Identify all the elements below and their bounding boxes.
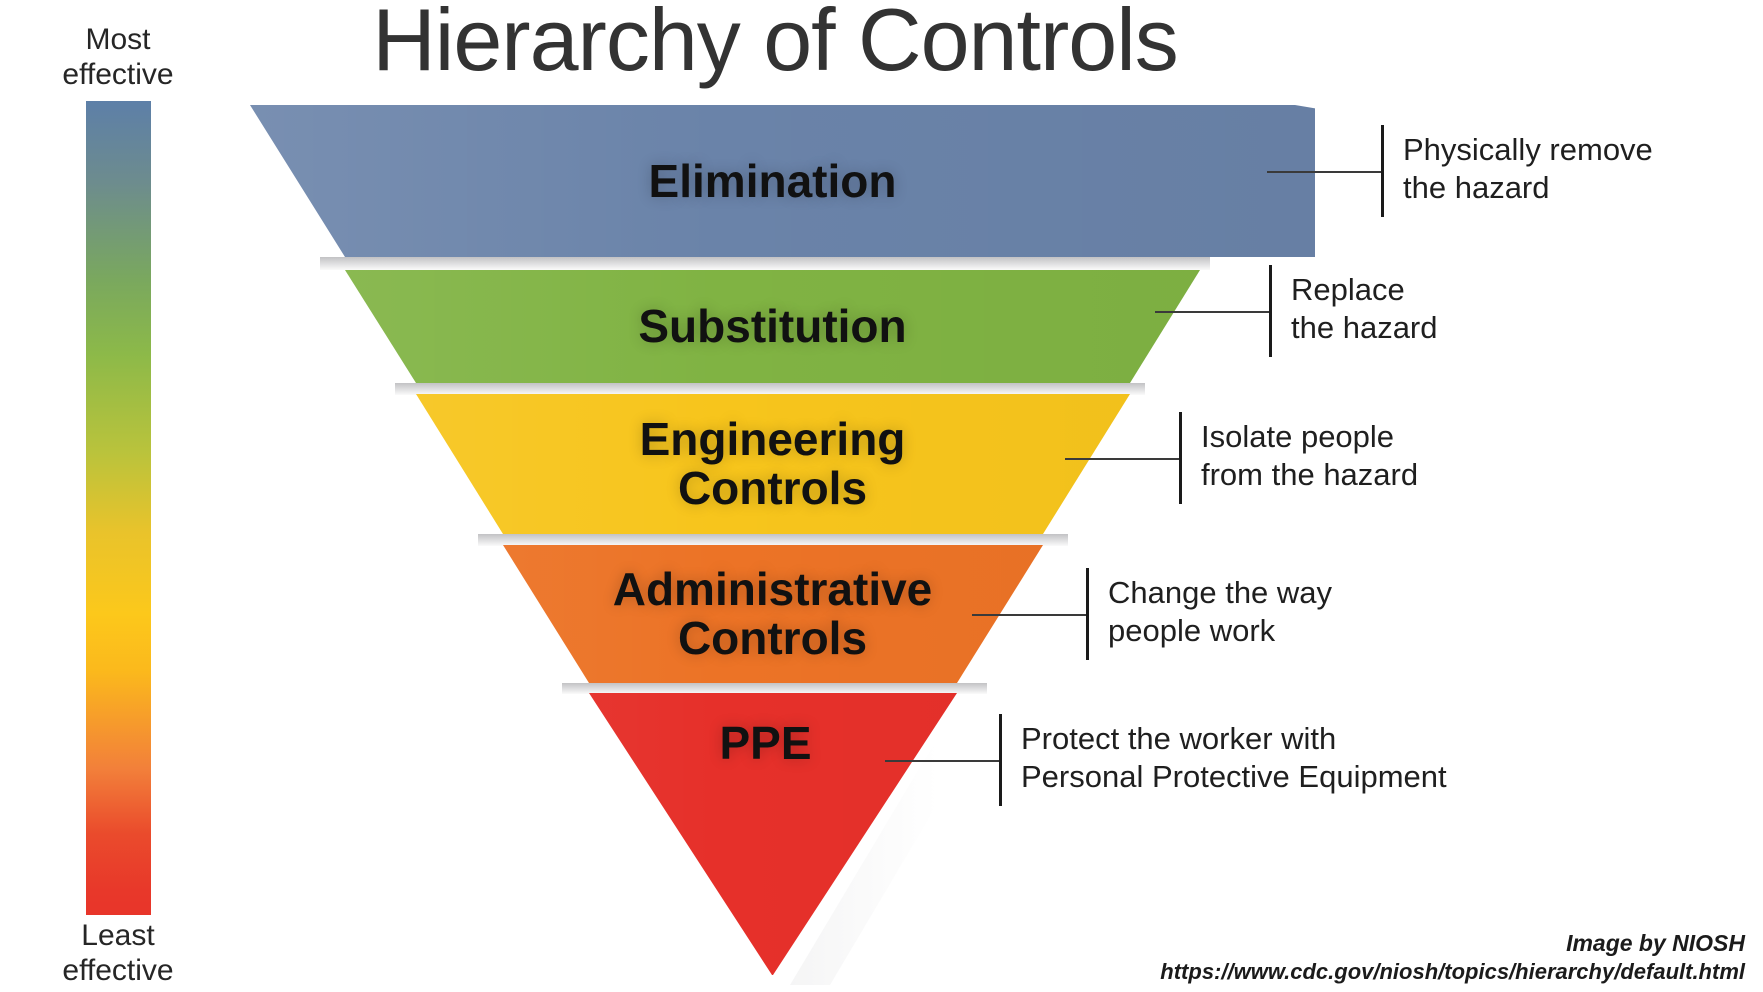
- callout-administrative-controls-leader: [972, 614, 1086, 616]
- callout-ppe: Protect the worker with Personal Protect…: [885, 714, 1445, 806]
- credit-image-by: Image by NIOSH: [1566, 930, 1745, 957]
- administrative-label-line2: Controls: [613, 614, 933, 663]
- callout-elimination-bracket: [1381, 125, 1384, 217]
- band-separator-2: [395, 383, 1145, 395]
- callout-engineering-controls-text-line1: Isolate people: [1201, 418, 1394, 456]
- callout-ppe-bracket: [999, 714, 1002, 806]
- callout-substitution-text-line2: the hazard: [1291, 309, 1438, 347]
- callout-elimination: Physically remove the hazard: [1267, 125, 1737, 217]
- administrative-label-line1: Administrative: [613, 565, 933, 614]
- funnel-band-substitution[interactable]: Substitution: [230, 270, 1315, 383]
- callout-elimination-leader: [1267, 171, 1381, 173]
- funnel-band-elimination[interactable]: Elimination: [230, 105, 1315, 257]
- callout-administrative-controls-text-line1: Change the way: [1108, 574, 1332, 612]
- band-separator-3: [478, 534, 1068, 546]
- funnel-band-elimination-label: Elimination: [649, 157, 897, 206]
- funnel-band-engineering-controls-label: Engineering Controls: [640, 415, 906, 513]
- engineering-label-line1: Engineering: [640, 415, 906, 464]
- callout-administrative-controls: Change the way people work: [972, 568, 1442, 660]
- infographic-root: Hierarchy of Controls Most effective Lea…: [0, 0, 1763, 992]
- engineering-label-line2: Controls: [640, 464, 906, 513]
- callout-administrative-controls-bracket: [1086, 568, 1089, 660]
- band-separator-1: [320, 257, 1210, 270]
- funnel-band-ppe-label: PPE: [719, 719, 811, 768]
- callout-engineering-controls-leader: [1065, 458, 1179, 460]
- callout-substitution-text-line1: Replace: [1291, 271, 1405, 309]
- band-separator-4: [562, 683, 987, 694]
- callout-ppe-text-line1: Protect the worker with: [1021, 720, 1336, 758]
- callout-administrative-controls-text-line2: people work: [1108, 612, 1275, 650]
- callout-ppe-leader: [885, 760, 999, 762]
- callout-substitution-leader: [1155, 311, 1269, 313]
- callout-elimination-text-line2: the hazard: [1403, 169, 1550, 207]
- callout-engineering-controls-text-line2: from the hazard: [1201, 456, 1418, 494]
- callout-engineering-controls: Isolate people from the hazard: [1065, 412, 1535, 504]
- funnel-band-administrative-controls-label: Administrative Controls: [613, 565, 933, 663]
- callout-engineering-controls-bracket: [1179, 412, 1182, 504]
- credit-url[interactable]: https://www.cdc.gov/niosh/topics/hierarc…: [1160, 959, 1745, 985]
- callout-elimination-text-line1: Physically remove: [1403, 131, 1653, 169]
- callout-ppe-text-line2: Personal Protective Equipment: [1021, 758, 1447, 796]
- callout-substitution-bracket: [1269, 265, 1272, 357]
- callout-substitution: Replace the hazard: [1155, 265, 1625, 357]
- funnel-band-substitution-label: Substitution: [638, 302, 906, 351]
